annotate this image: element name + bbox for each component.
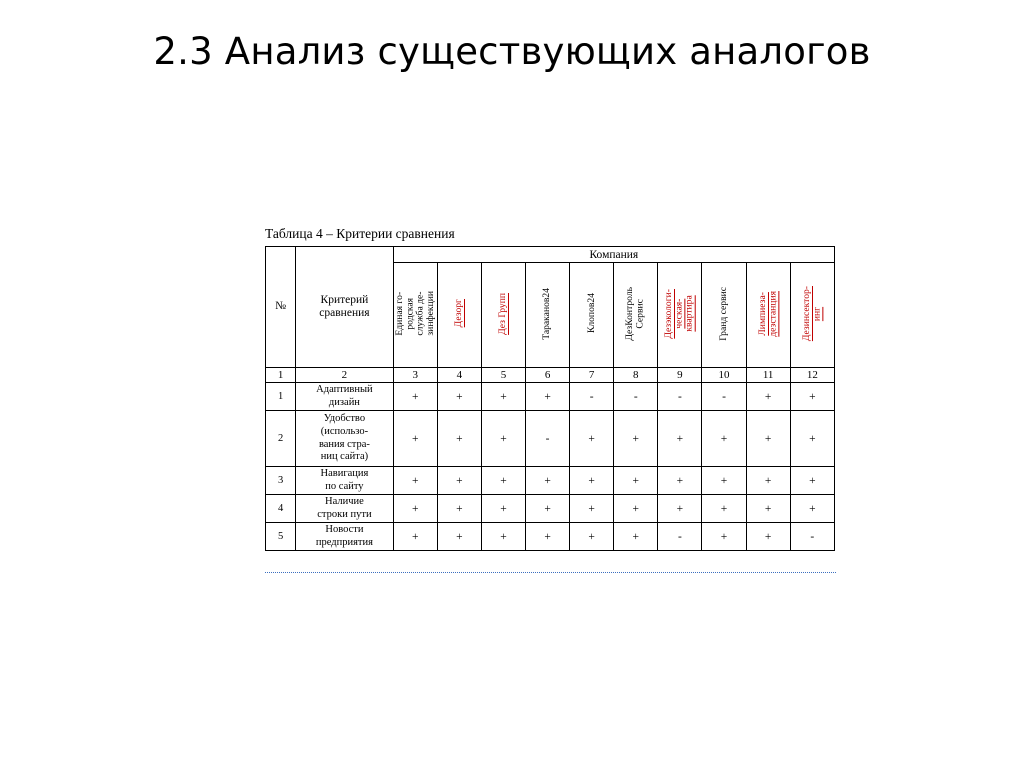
table-row: 2 Удобство (использо- вания стра- ниц са… — [266, 411, 835, 467]
company-label: Клопов24 — [587, 293, 597, 333]
cell-value: + — [570, 495, 614, 523]
header-company-2[interactable]: Дезорг — [437, 263, 481, 368]
cell-value: + — [746, 467, 790, 495]
cell-value: + — [437, 383, 481, 411]
header-company-3[interactable]: Дез Групп — [481, 263, 525, 368]
company-label: Тараканов24 — [542, 288, 552, 340]
company-label[interactable]: Дезэкологи- ческая- квартира — [664, 289, 695, 339]
header-criteria: Критерий сравнения — [296, 247, 394, 368]
cell-value: - — [658, 523, 702, 551]
header-company-10[interactable]: Дезинсектор- инг — [790, 263, 834, 368]
cell-value: + — [393, 467, 437, 495]
table-row: 5 Новости предприятия + + + + + + - + + … — [266, 523, 835, 551]
header-number: № — [266, 247, 296, 368]
table-caption: Таблица 4 – Критерии сравнения — [265, 226, 835, 242]
col-number: 1 — [266, 368, 296, 383]
cell-value: + — [614, 523, 658, 551]
company-label[interactable]: Дез Групп — [498, 293, 508, 335]
cell-value: + — [790, 467, 834, 495]
cell-value: + — [481, 467, 525, 495]
row-criteria: Удобство (использо- вания стра- ниц сайт… — [296, 411, 394, 467]
cell-value: + — [526, 383, 570, 411]
cell-value: + — [702, 523, 746, 551]
row-criteria: Новости предприятия — [296, 523, 394, 551]
cell-value: + — [526, 467, 570, 495]
selection-indicator — [265, 572, 836, 573]
cell-value: + — [437, 523, 481, 551]
row-index: 4 — [266, 495, 296, 523]
cell-value: + — [790, 495, 834, 523]
cell-value: + — [481, 411, 525, 467]
cell-value: + — [746, 495, 790, 523]
cell-value: + — [702, 411, 746, 467]
company-label: ДезКонтроль Сервис — [625, 287, 646, 341]
cell-value: - — [570, 383, 614, 411]
table-row: 1 Адаптивный дизайн + + + + - - - - + + — [266, 383, 835, 411]
cell-value: - — [614, 383, 658, 411]
row-criteria: Адаптивный дизайн — [296, 383, 394, 411]
header-company-4: Тараканов24 — [526, 263, 570, 368]
company-label: Единая го- родская служба де- зинфекции — [395, 291, 436, 336]
col-number: 4 — [437, 368, 481, 383]
cell-value: + — [393, 523, 437, 551]
cell-value: + — [526, 523, 570, 551]
row-criteria: Навигация по сайту — [296, 467, 394, 495]
cell-value: + — [570, 467, 614, 495]
cell-value: + — [393, 383, 437, 411]
cell-value: + — [614, 495, 658, 523]
row-index: 3 — [266, 467, 296, 495]
col-number: 6 — [526, 368, 570, 383]
cell-value: + — [481, 383, 525, 411]
col-number: 12 — [790, 368, 834, 383]
cell-value: + — [570, 411, 614, 467]
row-index: 2 — [266, 411, 296, 467]
cell-value: + — [790, 411, 834, 467]
cell-value: + — [437, 495, 481, 523]
table-header-group-row: № Критерий сравнения Компания — [266, 247, 835, 263]
cell-value: + — [658, 467, 702, 495]
cell-value: + — [614, 411, 658, 467]
header-company-group: Компания — [393, 247, 834, 263]
header-company-8: Гранд сервис — [702, 263, 746, 368]
cell-value: + — [437, 411, 481, 467]
cell-value: + — [481, 495, 525, 523]
cell-value: + — [790, 383, 834, 411]
cell-value: - — [702, 383, 746, 411]
col-number: 3 — [393, 368, 437, 383]
company-label[interactable]: Лимпиеза- дезстанция — [758, 291, 779, 337]
cell-value: + — [393, 495, 437, 523]
row-criteria: Наличие строки пути — [296, 495, 394, 523]
col-number: 8 — [614, 368, 658, 383]
company-label[interactable]: Дезинсектор- инг — [802, 286, 823, 341]
cell-value: + — [437, 467, 481, 495]
cell-value: - — [658, 383, 702, 411]
cell-value: + — [614, 467, 658, 495]
row-index: 5 — [266, 523, 296, 551]
table-row: 4 Наличие строки пути + + + + + + + + + … — [266, 495, 835, 523]
cell-value: + — [658, 495, 702, 523]
col-number: 7 — [570, 368, 614, 383]
cell-value: + — [481, 523, 525, 551]
col-number: 5 — [481, 368, 525, 383]
table-row: 3 Навигация по сайту + + + + + + + + + + — [266, 467, 835, 495]
header-company-5: Клопов24 — [570, 263, 614, 368]
table-column-numbers-row: 1 2 3 4 5 6 7 8 9 10 11 12 — [266, 368, 835, 383]
comparison-table: № Критерий сравнения Компания Единая го-… — [265, 246, 835, 551]
company-label[interactable]: Дезорг — [454, 299, 464, 327]
header-company-9[interactable]: Лимпиеза- дезстанция — [746, 263, 790, 368]
col-number: 11 — [746, 368, 790, 383]
col-number: 2 — [296, 368, 394, 383]
company-label: Гранд сервис — [719, 287, 729, 341]
cell-value: + — [702, 495, 746, 523]
header-company-7[interactable]: Дезэкологи- ческая- квартира — [658, 263, 702, 368]
page-title: 2.3 Анализ существующих аналогов — [0, 30, 1024, 73]
col-number: 9 — [658, 368, 702, 383]
header-company-6: ДезКонтроль Сервис — [614, 263, 658, 368]
cell-value: + — [393, 411, 437, 467]
cell-value: + — [746, 411, 790, 467]
cell-value: + — [526, 495, 570, 523]
header-company-1: Единая го- родская служба де- зинфекции — [393, 263, 437, 368]
row-index: 1 — [266, 383, 296, 411]
cell-value: + — [658, 411, 702, 467]
comparison-table-block: Таблица 4 – Критерии сравнения № Критери… — [265, 226, 835, 551]
cell-value: - — [526, 411, 570, 467]
cell-value: + — [746, 383, 790, 411]
cell-value: - — [790, 523, 834, 551]
cell-value: + — [570, 523, 614, 551]
col-number: 10 — [702, 368, 746, 383]
cell-value: + — [702, 467, 746, 495]
cell-value: + — [746, 523, 790, 551]
